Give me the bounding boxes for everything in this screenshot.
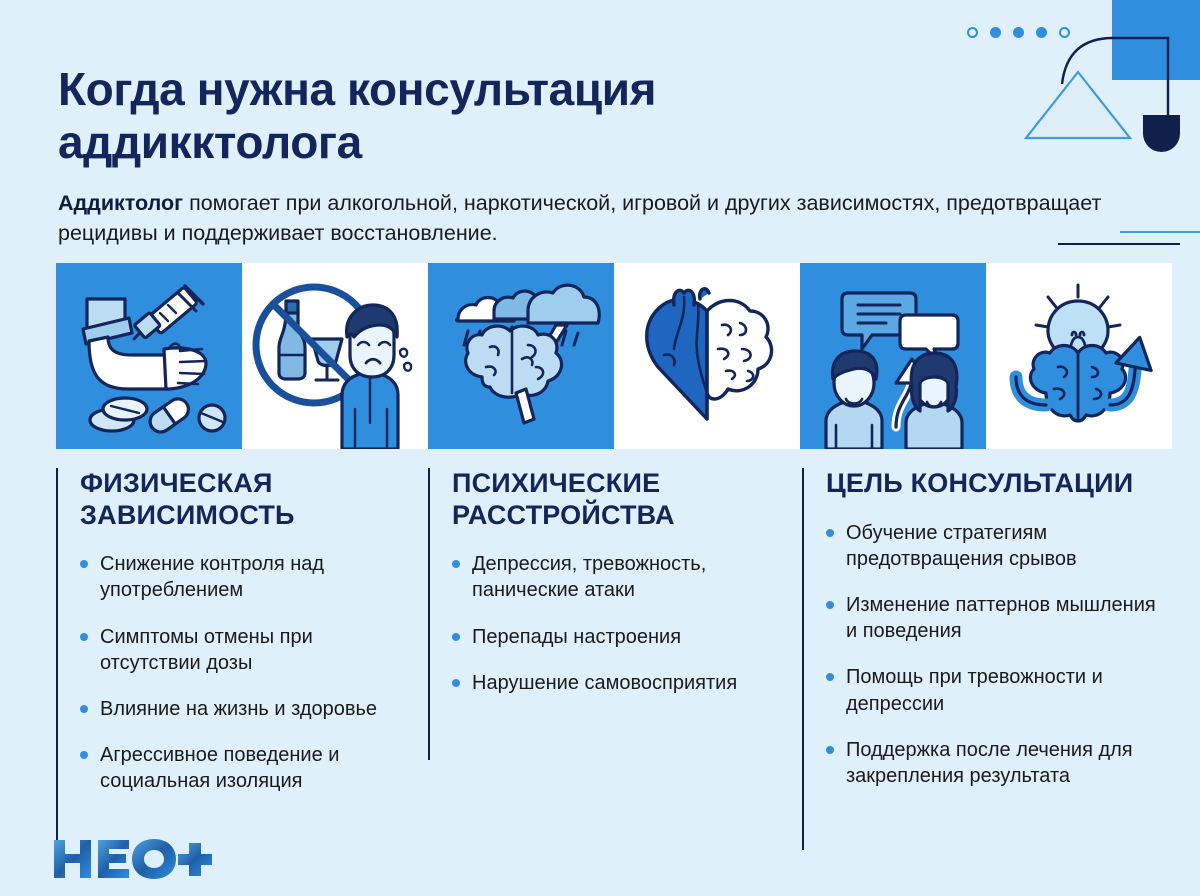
brain-storm-cloud-illustration xyxy=(428,263,614,449)
list-item: Депрессия, тревожность, панические атаки xyxy=(452,551,772,603)
list-item: Помощь при тревожности и депрессии xyxy=(826,664,1168,716)
bullet-icon xyxy=(80,705,88,713)
header-dot-row xyxy=(967,27,1070,38)
page-title: Когда нужна консультация аддикктолога xyxy=(58,63,918,170)
list-item-text: Нарушение самовосприятия xyxy=(472,672,737,694)
header-dot-2 xyxy=(990,27,1001,38)
arm-syringe-pills-illustration xyxy=(56,263,242,449)
bullet-icon xyxy=(452,560,460,568)
list-item-text: Поддержка после лечения для закрепления … xyxy=(846,739,1133,787)
column-3-list: Обучение стратегиям предотвращения срыво… xyxy=(826,520,1168,790)
list-item: Влияние на жизнь и здоровье xyxy=(80,696,406,722)
header-curve-hook xyxy=(1060,22,1172,126)
bullet-icon xyxy=(80,751,88,759)
list-item-text: Симптомы отмены при отсутствии дозы xyxy=(100,626,313,674)
column-3-heading: Цель консультации xyxy=(826,468,1168,500)
column-1-heading: Физическая зависимость xyxy=(80,468,406,531)
subtitle-lead-term: Аддиктолог xyxy=(58,191,183,215)
column-divider-2 xyxy=(428,468,430,760)
list-item: Обучение стратегиям предотвращения срыво… xyxy=(826,520,1168,572)
list-item: Снижение контроля над употреблением xyxy=(80,551,406,603)
bullet-icon xyxy=(80,633,88,641)
page-subtitle: Аддиктолог помогает при алкогольной, нар… xyxy=(58,188,1128,249)
bullet-icon xyxy=(452,679,460,687)
list-item-text: Влияние на жизнь и здоровье xyxy=(100,698,377,720)
brain-lightbulb-arrows-illustration xyxy=(986,263,1172,449)
column-divider-1 xyxy=(56,468,58,850)
header-accent-line-blue xyxy=(1120,231,1200,233)
list-item: Изменение паттернов мышления и поведения xyxy=(826,592,1168,644)
header-dot-1 xyxy=(967,27,978,38)
header-dot-3 xyxy=(1013,27,1024,38)
subtitle-rest-text: помогает при алкогольной, наркотической,… xyxy=(58,191,1101,246)
list-item: Перепады настроения xyxy=(452,624,772,650)
list-item: Симптомы отмены при отсутствии дозы xyxy=(80,624,406,676)
list-item-text: Снижение контроля над употреблением xyxy=(100,553,324,601)
list-item-text: Депрессия, тревожность, панические атаки xyxy=(472,553,706,601)
list-item-text: Помощь при тревожности и депрессии xyxy=(846,666,1103,714)
bullet-icon xyxy=(80,560,88,568)
list-item: Поддержка после лечения для закрепления … xyxy=(826,737,1168,789)
no-alcohol-sad-person-illustration xyxy=(242,263,428,449)
header-dot-4 xyxy=(1036,27,1047,38)
column-divider-3 xyxy=(802,468,804,850)
list-item-text: Перепады настроения xyxy=(472,626,681,648)
list-item-text: Агрессивное поведение и социальная изоля… xyxy=(100,744,339,792)
bullet-icon xyxy=(826,673,834,681)
list-item-text: Обучение стратегиям предотвращения срыво… xyxy=(846,522,1077,570)
brand-logo xyxy=(52,836,212,882)
list-item: Агрессивное поведение и социальная изоля… xyxy=(80,742,406,794)
heart-brain-halves-illustration xyxy=(614,263,800,449)
bullet-icon xyxy=(826,746,834,754)
people-speech-bubbles-arrow-illustration xyxy=(800,263,986,449)
bullet-icon xyxy=(452,633,460,641)
column-1-list: Снижение контроля над употреблением Симп… xyxy=(80,551,406,794)
bullet-icon xyxy=(826,601,834,609)
column-2-heading: Психические расстройства xyxy=(452,468,772,531)
bullet-icon xyxy=(826,529,834,537)
list-item: Нарушение самовосприятия xyxy=(452,670,772,696)
header-navy-half-circle xyxy=(1143,115,1180,152)
list-item-text: Изменение паттернов мышления и поведения xyxy=(846,594,1156,642)
column-2-list: Депрессия, тревожность, панические атаки… xyxy=(452,551,772,696)
